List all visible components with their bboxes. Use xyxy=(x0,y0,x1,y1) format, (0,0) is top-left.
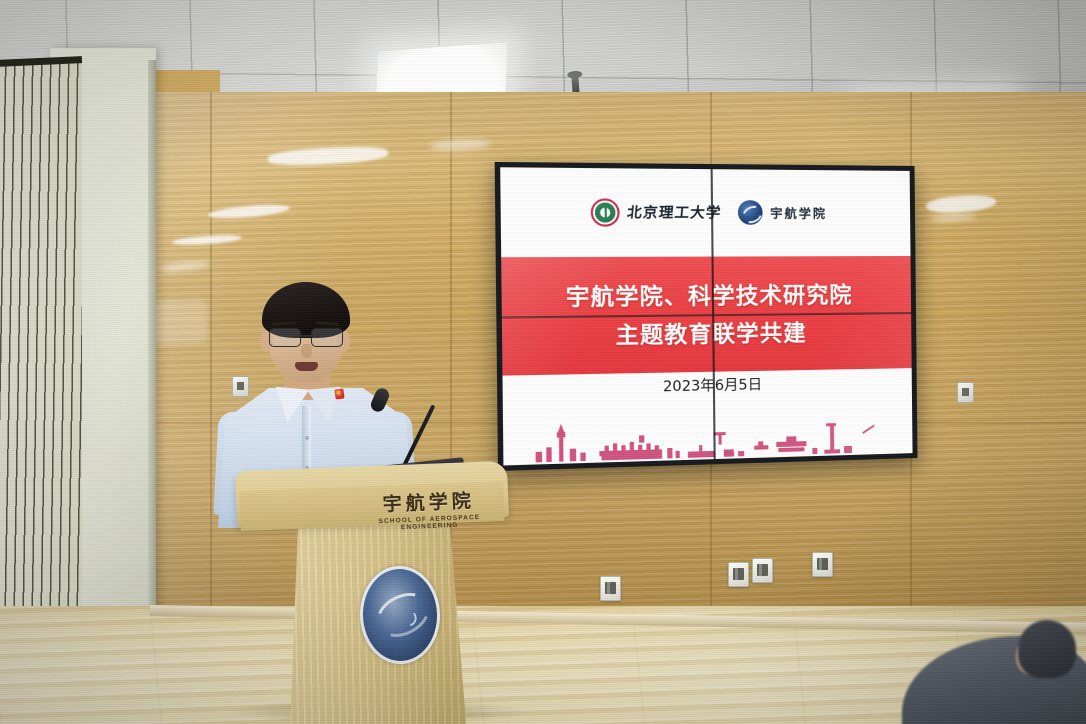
lectern-nameplate: 宇航学院 SCHOOL OF AEROSPACE ENGINEERING xyxy=(353,485,505,533)
outlet-slot-icon xyxy=(733,568,744,580)
glasses-bridge xyxy=(299,335,313,337)
pillar-edge xyxy=(148,60,156,696)
wall-plate[interactable] xyxy=(957,382,974,403)
sae-logo-label: 宇航学院 xyxy=(770,204,827,221)
outlet-slot-icon xyxy=(605,582,616,594)
wall-outlet[interactable] xyxy=(728,562,749,587)
wall-glare xyxy=(149,299,209,345)
outlet-slot-icon xyxy=(757,564,768,576)
slide-date: 2023年6月5日 xyxy=(503,371,912,400)
glasses-lens-left xyxy=(269,328,301,347)
speaker-mouth xyxy=(295,362,318,371)
glasses-lens-right xyxy=(311,328,343,347)
slat-acoustic-panel xyxy=(0,62,82,696)
wall-seam xyxy=(210,92,212,672)
slide-title-line-1: 宇航学院、科学技术研究院 xyxy=(566,278,853,313)
glasses-icon xyxy=(269,328,343,345)
wall-plate-socket-icon xyxy=(962,388,969,396)
sae-emblem-icon xyxy=(738,200,763,225)
slide-logo-row: 北京理工大学 宇航学院 xyxy=(500,167,910,256)
presentation-video-wall[interactable]: 北京理工大学 宇航学院 宇航学院、科学技术研究院 主题教育联学共建 2023年6… xyxy=(495,162,918,471)
party-emblem-pin-icon xyxy=(334,388,344,399)
speaker-nose xyxy=(301,344,312,358)
bit-logo-label: 北京理工大学 xyxy=(627,202,723,223)
shirt-button xyxy=(305,436,309,440)
wall-outlet[interactable] xyxy=(752,558,773,583)
bit-emblem-icon xyxy=(591,198,620,226)
wall-outlet[interactable] xyxy=(600,576,621,601)
slat-lines xyxy=(0,62,82,696)
outlet-slot-icon xyxy=(817,558,828,570)
photo-scene: 北京理工大学 宇航学院 宇航学院、科学技术研究院 主题教育联学共建 2023年6… xyxy=(0,0,1086,724)
wall-outlet[interactable] xyxy=(812,552,833,577)
audience-member-head xyxy=(1018,620,1076,678)
skyline-graphic-icon xyxy=(503,411,913,465)
slide-content: 北京理工大学 宇航学院 宇航学院、科学技术研究院 主题教育联学共建 2023年6… xyxy=(500,167,912,465)
slide-title-line-2: 主题教育联学共建 xyxy=(615,316,806,351)
bit-logo: 北京理工大学 xyxy=(591,198,722,226)
sae-logo: 宇航学院 xyxy=(738,200,827,225)
screen-bezel: 北京理工大学 宇航学院 宇航学院、科学技术研究院 主题教育联学共建 2023年6… xyxy=(495,162,918,471)
